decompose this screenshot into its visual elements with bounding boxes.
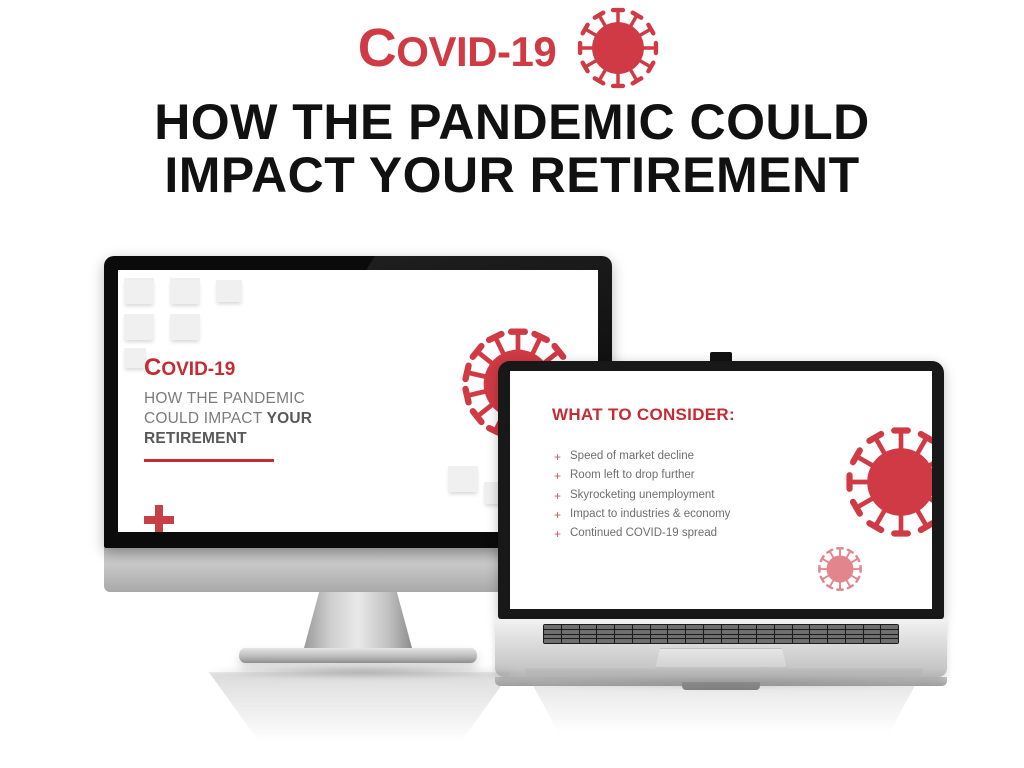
keyboard-key	[686, 630, 703, 634]
keyboard-key	[562, 639, 579, 643]
keyboard-key	[864, 639, 881, 643]
keyboard-key	[864, 635, 881, 639]
bullet-plus-icon: +	[554, 447, 561, 467]
keyboard-row	[544, 635, 898, 639]
keyboard-key	[668, 635, 685, 639]
keyboard-key	[615, 639, 632, 643]
keyboard-key	[793, 635, 810, 639]
monitor-slide-subtitle: HOW THE PANDEMIC COULD IMPACT YOUR RETIR…	[144, 389, 404, 448]
keyboard-key	[580, 639, 597, 643]
keyboard-key	[615, 630, 632, 634]
keyboard-key	[864, 625, 881, 629]
bullet-plus-icon: +	[554, 466, 561, 486]
brand-initial: C	[358, 18, 397, 78]
keyboard-row	[544, 630, 898, 634]
list-item-label: Continued COVID-19 spread	[570, 527, 717, 539]
keyboard-key	[757, 625, 774, 629]
keyboard-key	[597, 639, 614, 643]
keyboard-key	[597, 630, 614, 634]
list-item-label: Skyrocketing unemployment	[570, 489, 714, 501]
list-item-label: Impact to industries & economy	[570, 508, 730, 520]
keyboard-key	[722, 639, 739, 643]
list-item: +Room left to drop further	[554, 466, 730, 485]
keyboard-key	[544, 630, 561, 634]
laptop-camera-notch	[710, 352, 732, 361]
page-title-line-2: IMPACT YOUR RETIREMENT	[0, 149, 1024, 202]
decor-square	[216, 280, 242, 302]
list-item: +Skyrocketing unemployment	[554, 486, 730, 505]
laptop-trackpad	[655, 648, 787, 668]
keyboard-key	[686, 635, 703, 639]
keyboard-key	[668, 639, 685, 643]
keyboard-key	[793, 639, 810, 643]
monitor-slide-covid-title: COVID-19	[144, 356, 404, 380]
keyboard-key	[704, 639, 721, 643]
keyboard-key	[722, 625, 739, 629]
keyboard-key	[597, 635, 614, 639]
bullet-plus-icon: +	[554, 524, 561, 544]
keyboard-key	[704, 635, 721, 639]
keyboard-key	[881, 625, 898, 629]
keyboard-key	[828, 639, 845, 643]
monitor-slide-content: COVID-19 HOW THE PANDEMIC COULD IMPACT Y…	[144, 356, 404, 462]
brand-covid19-text: COVID-19	[358, 21, 556, 75]
monitor-stand-neck	[304, 592, 412, 648]
page-title: HOW THE PANDEMIC COULD IMPACT YOUR RETIR…	[0, 96, 1024, 202]
laptop-keyboard	[543, 624, 899, 644]
keyboard-key	[846, 625, 863, 629]
keyboard-key	[810, 639, 827, 643]
keyboard-key	[775, 635, 792, 639]
brand-lockup: COVID-19	[0, 0, 1024, 96]
keyboard-key	[722, 630, 739, 634]
keyboard-key	[651, 639, 668, 643]
decor-square	[170, 278, 200, 304]
keyboard-key	[775, 639, 792, 643]
keyboard-key	[704, 630, 721, 634]
keyboard-key	[633, 639, 650, 643]
coronavirus-icon	[570, 0, 666, 96]
keyboard-key	[651, 635, 668, 639]
keyboard-key	[633, 635, 650, 639]
keyboard-key	[562, 635, 579, 639]
keyboard-key	[704, 625, 721, 629]
bullet-plus-icon: +	[554, 486, 561, 506]
keyboard-key	[651, 625, 668, 629]
keyboard-key	[580, 635, 597, 639]
medical-plus-icon	[144, 505, 174, 532]
monitor-subtitle-line-3: RETIREMENT	[144, 429, 404, 449]
keyboard-key	[722, 635, 739, 639]
keyboard-key	[810, 630, 827, 634]
keyboard-key	[580, 625, 597, 629]
decor-square	[448, 466, 478, 492]
list-item: +Continued COVID-19 spread	[554, 524, 730, 543]
brand-remainder: OVID-19	[396, 28, 556, 75]
keyboard-key	[881, 630, 898, 634]
decor-square	[124, 314, 154, 340]
page-title-line-1: HOW THE PANDEMIC COULD	[0, 96, 1024, 149]
keyboard-key	[810, 625, 827, 629]
keyboard-key	[864, 630, 881, 634]
laptop-slide-heading: WHAT TO CONSIDER:	[552, 405, 735, 425]
keyboard-key	[633, 630, 650, 634]
keyboard-key	[775, 625, 792, 629]
keyboard-key	[651, 630, 668, 634]
decor-square	[124, 278, 154, 304]
keyboard-key	[668, 625, 685, 629]
list-item: +Impact to industries & economy	[554, 505, 730, 524]
keyboard-key	[686, 639, 703, 643]
laptop-device: WHAT TO CONSIDER: +Speed of market decli…	[498, 352, 944, 686]
keyboard-key	[828, 630, 845, 634]
keyboard-key	[686, 625, 703, 629]
list-item-label: Room left to drop further	[570, 469, 695, 481]
keyboard-key	[562, 630, 579, 634]
decor-square	[124, 348, 146, 368]
poster-canvas: COVID-19	[0, 0, 1024, 768]
monitor-stand-base	[239, 648, 477, 663]
keyboard-key	[846, 639, 863, 643]
keyboard-key	[881, 635, 898, 639]
list-item-label: Speed of market decline	[570, 450, 694, 462]
keyboard-row	[544, 639, 898, 643]
keyboard-key	[793, 630, 810, 634]
keyboard-key	[757, 630, 774, 634]
laptop-screen: WHAT TO CONSIDER: +Speed of market decli…	[510, 371, 932, 609]
keyboard-key	[793, 625, 810, 629]
keyboard-key	[580, 630, 597, 634]
consideration-list: +Speed of market decline +Room left to d…	[554, 447, 730, 544]
keyboard-key	[739, 630, 756, 634]
keyboard-key	[739, 635, 756, 639]
laptop-bezel: WHAT TO CONSIDER: +Speed of market decli…	[498, 361, 944, 619]
keyboard-key	[597, 625, 614, 629]
keyboard-key	[828, 635, 845, 639]
keyboard-row	[544, 625, 898, 629]
monitor-covid-initial: C	[144, 354, 161, 381]
keyboard-key	[757, 635, 774, 639]
keyboard-key	[615, 635, 632, 639]
decor-square	[170, 314, 200, 340]
keyboard-key	[846, 630, 863, 634]
keyboard-key	[668, 630, 685, 634]
keyboard-key	[810, 635, 827, 639]
monitor-subtitle-line-1: HOW THE PANDEMIC	[144, 389, 404, 409]
keyboard-key	[544, 635, 561, 639]
keyboard-key	[881, 639, 898, 643]
keyboard-key	[828, 625, 845, 629]
coronavirus-icon	[836, 417, 932, 547]
monitor-subtitle-bold-your: YOUR	[267, 410, 313, 427]
keyboard-key	[615, 625, 632, 629]
keyboard-key	[739, 639, 756, 643]
keyboard-key	[739, 625, 756, 629]
keyboard-key	[775, 630, 792, 634]
monitor-subtitle-plain: COULD IMPACT	[144, 410, 267, 427]
keyboard-key	[544, 639, 561, 643]
list-item: +Speed of market decline	[554, 447, 730, 466]
coronavirus-icon	[814, 543, 866, 595]
keyboard-key	[544, 625, 561, 629]
monitor-subtitle-bold-retirement: RETIREMENT	[144, 430, 247, 447]
monitor-covid-remainder: OVID-19	[161, 359, 235, 380]
keyboard-key	[846, 635, 863, 639]
monitor-subtitle-line-2: COULD IMPACT YOUR	[144, 409, 404, 429]
keyboard-key	[633, 625, 650, 629]
keyboard-key	[562, 625, 579, 629]
laptop-reflection	[506, 668, 942, 732]
monitor-accent-rule	[144, 459, 274, 462]
keyboard-key	[757, 639, 774, 643]
hero-header: COVID-19	[0, 0, 1024, 202]
bullet-plus-icon: +	[554, 505, 561, 525]
